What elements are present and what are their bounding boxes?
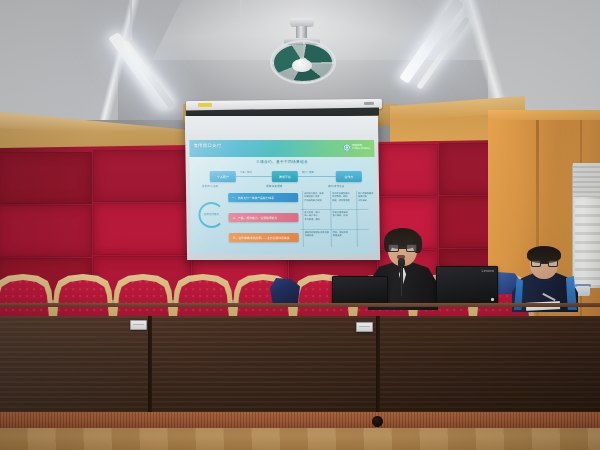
presentation-slide: 信用借口支付 中国移动 CHINA MOBILE 三通合约、基于不同场景组合 个…	[189, 140, 376, 254]
conference-room-photo: 信用借口支付 中国移动 CHINA MOBILE 三通合约、基于不同场景组合 个…	[0, 0, 600, 450]
wall-panel	[0, 205, 92, 257]
ac-vent-grille	[573, 163, 600, 197]
laptop-right-lid: Lenovo	[436, 266, 498, 304]
fan-hub	[292, 59, 312, 72]
table-panel-seam	[376, 316, 380, 420]
laptop-left-lid	[332, 276, 388, 304]
wall-panel	[378, 144, 438, 196]
laptop-right-brand: Lenovo	[482, 269, 494, 273]
laptop-right[interactable]: Lenovo	[436, 266, 498, 306]
fan-hanger	[240, 0, 242, 18]
floor-plank-lines	[0, 428, 600, 450]
light-hanger-left	[130, 0, 132, 40]
wall-panel	[0, 152, 92, 204]
microphone-stem	[400, 266, 402, 296]
water-cup	[576, 286, 590, 296]
wall-panel	[93, 150, 191, 202]
table-nameplate	[356, 322, 373, 332]
projector-screen: 信用借口支付 中国移动 CHINA MOBILE 三通合约、基于不同场景组合 个…	[185, 116, 380, 260]
laptop-indicator	[491, 298, 494, 301]
table-panel-seam	[148, 316, 152, 420]
ceiling-oscillating-fan	[262, 18, 342, 84]
eyeglasses-icon	[388, 244, 417, 252]
table-light-sheen	[0, 316, 600, 420]
cable-port-hole	[372, 416, 383, 427]
table-nameplate	[130, 320, 147, 330]
slide-glare	[189, 140, 376, 254]
screen-blank-band	[185, 116, 378, 142]
laptop-left[interactable]	[332, 276, 388, 306]
wall-panel	[93, 203, 191, 255]
case-logo	[364, 102, 374, 105]
desk-microphone	[398, 258, 405, 294]
seated-participant	[512, 246, 578, 308]
eyeglasses-icon	[531, 260, 558, 267]
case-yellow-label	[198, 103, 212, 107]
